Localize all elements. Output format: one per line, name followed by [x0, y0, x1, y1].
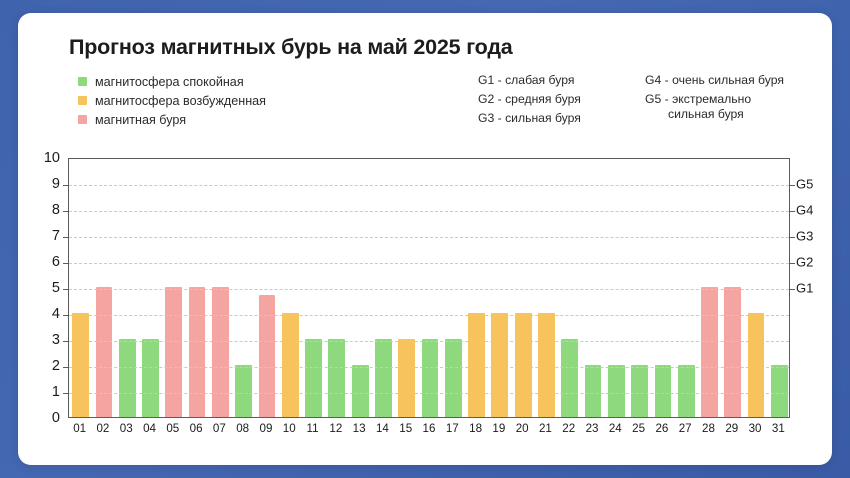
gscale-legend-line: G5 - экстремально: [645, 92, 751, 106]
screenshot-frame: Прогноз магнитных бурь на май 2025 года …: [0, 0, 850, 478]
color-legend: магнитосфера спокойнаямагнитосфера возбу…: [78, 73, 266, 130]
forecast-card: Прогноз магнитных бурь на май 2025 года …: [18, 13, 832, 465]
legend-item: магнитосфера возбужденная: [78, 92, 266, 109]
square-swatch-icon: [78, 96, 87, 105]
legend-item: магнитосфера спокойная: [78, 73, 266, 90]
legend-item-label: магнитосфера спокойная: [95, 75, 244, 89]
page-title: Прогноз магнитных бурь на май 2025 года: [69, 35, 513, 60]
gscale-legend-row: G3 - сильная буря: [478, 111, 581, 128]
gscale-legend-column-1: G1 - слабая буряG2 - средняя буряG3 - си…: [478, 73, 581, 130]
gscale-legend-row: G2 - средняя буря: [478, 92, 581, 109]
legend-item-label: магнитосфера возбужденная: [95, 94, 266, 108]
gscale-legend-row: G1 - слабая буря: [478, 73, 581, 90]
gscale-legend-line: сильная буря: [645, 107, 784, 122]
gscale-legend-row: G4 - очень сильная буря: [645, 73, 784, 90]
gscale-legend-column-2: G4 - очень сильная буряG5 - экстремально…: [645, 73, 784, 111]
square-swatch-icon: [78, 77, 87, 86]
square-swatch-icon: [78, 115, 87, 124]
gscale-legend-row: G5 - экстремальносильная буря: [645, 92, 784, 109]
legend-item: магнитная буря: [78, 111, 266, 128]
legend-item-label: магнитная буря: [95, 113, 186, 127]
